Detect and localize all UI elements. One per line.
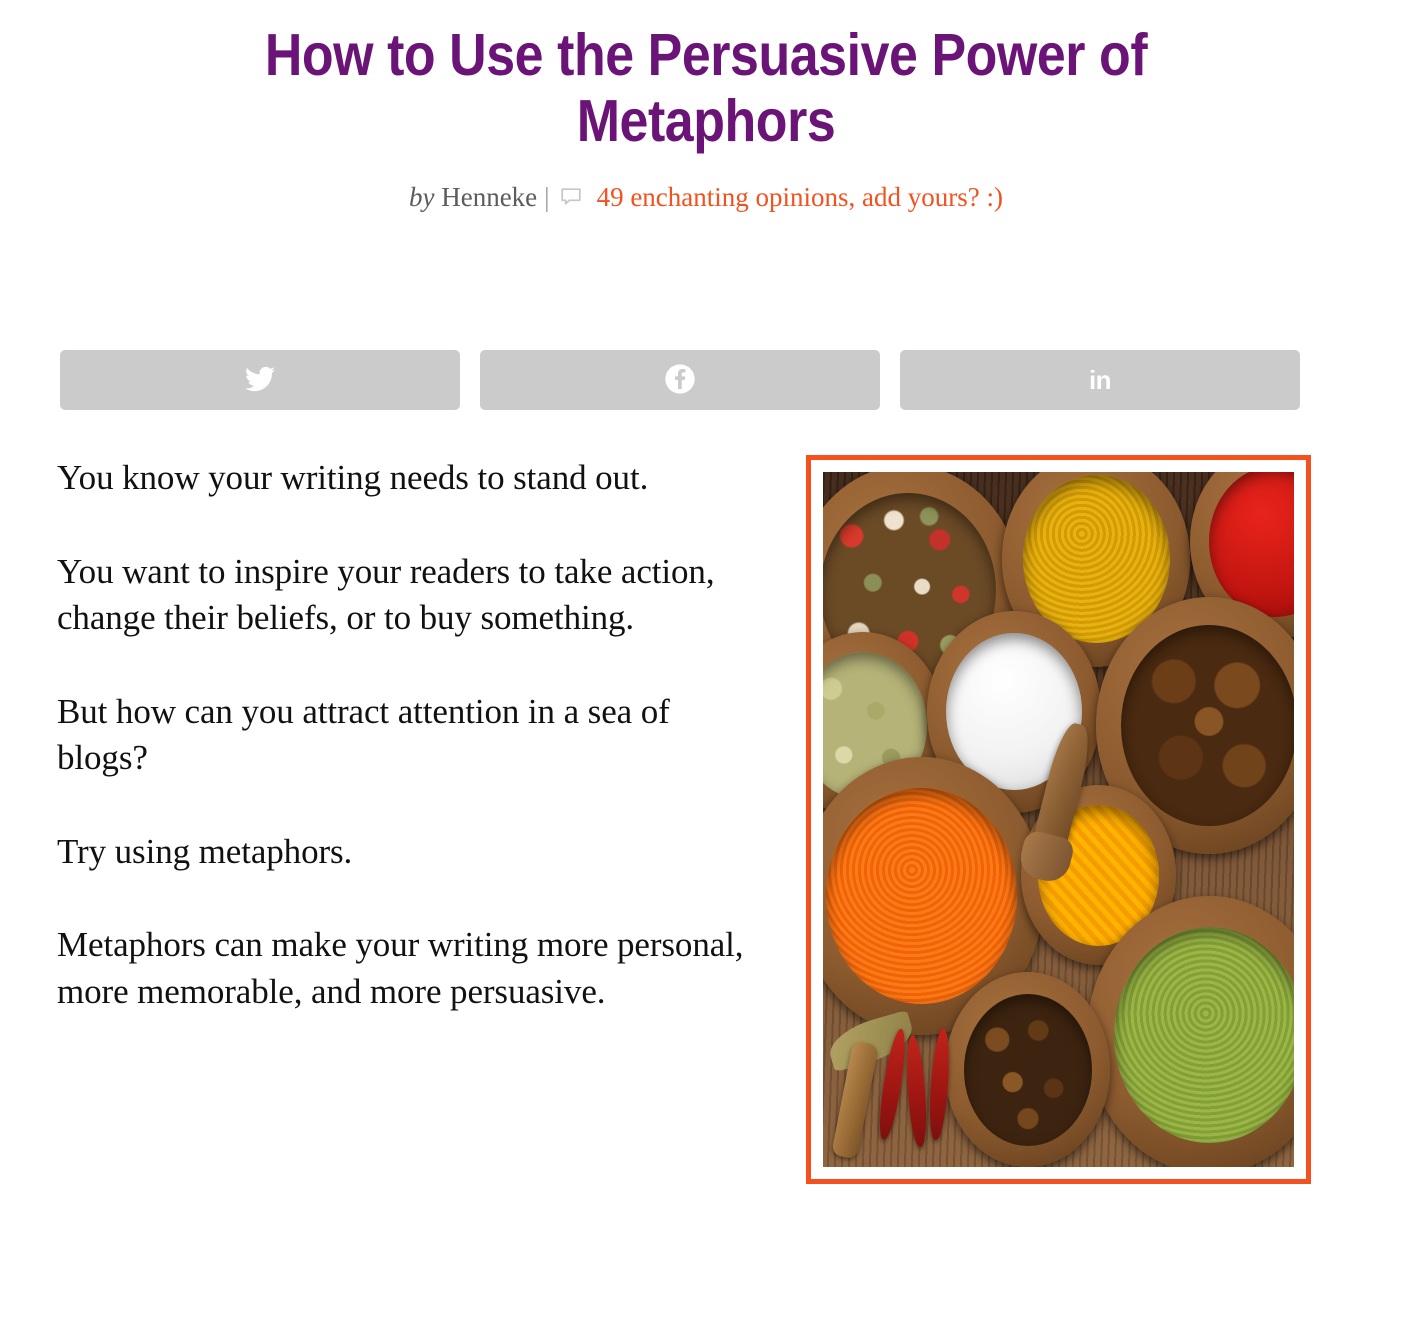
comment-bubble-icon — [559, 185, 583, 214]
byline: by Henneke|49 enchanting opinions, add y… — [0, 184, 1412, 214]
article-paragraph: You want to inspire your readers to take… — [57, 549, 757, 642]
article-paragraph: Metaphors can make your writing more per… — [57, 922, 757, 1015]
share-button-twitter[interactable] — [60, 350, 460, 410]
byline-by-word: by — [409, 182, 434, 212]
article-paragraph: But how can you attract attention in a s… — [57, 689, 757, 782]
twitter-bird-icon — [245, 364, 275, 397]
page-title: How to Use the Persuasive Power of Metap… — [85, 0, 1328, 154]
article-paragraph: You know your writing needs to stand out… — [57, 455, 757, 502]
byline-author: Henneke — [441, 182, 537, 212]
featured-image-frame — [806, 455, 1311, 1184]
facebook-icon — [664, 363, 696, 398]
share-button-facebook[interactable] — [480, 350, 880, 410]
comment-link[interactable]: 49 enchanting opinions, add yours? :) — [597, 182, 1003, 212]
linkedin-icon: in — [1089, 367, 1111, 393]
share-buttons-row: in — [60, 350, 1300, 410]
content-area: You know your writing needs to stand out… — [0, 455, 1412, 1332]
byline-separator: | — [544, 182, 549, 212]
article-body: You know your writing needs to stand out… — [57, 455, 757, 1062]
featured-image-spices — [823, 472, 1294, 1167]
bowl-cloves — [945, 972, 1110, 1167]
article-paragraph: Try using metaphors. — [57, 829, 757, 876]
share-button-linkedin[interactable]: in — [900, 350, 1300, 410]
